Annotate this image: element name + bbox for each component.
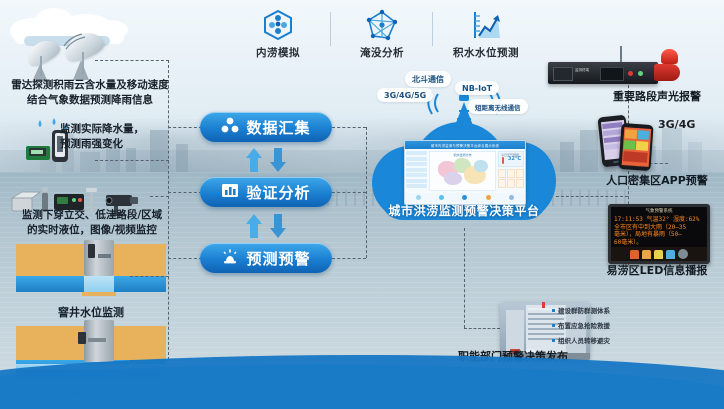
pill-label: 预测预警 <box>246 248 310 269</box>
capability-item-inundation-analysis[interactable]: 淹没分析 <box>336 8 428 60</box>
app-network-tag: 3G/4G <box>658 118 695 131</box>
dashboard-titlebar: 城市内涝监测与预警决策平台综合展示系统 <box>405 141 525 149</box>
gov-trunk-connector <box>464 228 465 328</box>
weather-temp-box: 今日天气预报 32°C <box>498 151 524 167</box>
weather-temp: 32°C <box>508 156 521 162</box>
app-label: 人口密集区APP预警 <box>590 172 724 188</box>
dashboard-sidebar[interactable] <box>405 149 428 193</box>
dashboard-title: 城市内涝监测与预警决策平台综合展示系统 <box>431 143 499 148</box>
gov-bullet-label: 建设群防群测体系 <box>558 305 610 315</box>
led-line-4: 60毫米）。 <box>614 239 704 247</box>
bullet-dot-icon <box>552 324 555 327</box>
radar-caption-line-2: 结合气象数据预测降雨信息 <box>4 93 176 108</box>
capability-item-waterlogging-simulation[interactable]: 内涝模拟 <box>232 8 324 60</box>
infographic-canvas: 内涝模拟 淹没分析 <box>0 0 724 409</box>
flow-arrows-1 <box>240 146 292 174</box>
platform-dashboard-screen[interactable]: 城市内涝监测与预警决策平台综合展示系统 积水监测分布 今日天气预报 32°C <box>404 140 526 205</box>
pill1-to-cloud-connector <box>332 127 366 128</box>
led-label: 易涝区LED信息播报 <box>590 262 724 278</box>
dashboard-map-panel[interactable]: 积水监测分布 <box>429 151 496 191</box>
flow-arrows-2 <box>240 212 292 240</box>
left-trunk-connector <box>168 60 169 360</box>
led-line-1: 17:11:53 气温32° 湿度:62% <box>614 216 704 224</box>
rain-gauge-line-2: 预测雨强变化 <box>60 137 180 152</box>
trend-chart-icon <box>440 8 532 42</box>
platform-title: 城市洪涝监测预警决策平台 <box>372 202 556 219</box>
radar-connector <box>95 60 169 61</box>
led-line-2: 全市区有中到大雨（20—35 <box>614 224 704 232</box>
capability-icon-row: 内涝模拟 淹没分析 <box>232 8 532 68</box>
pill-verification-analysis[interactable]: 验证分析 <box>200 177 332 207</box>
road-monitor-caption: 监测下穿立交、低洼路段/区域 的实时液位，图像/视频监控 <box>4 208 180 238</box>
capability-item-water-level-forecast[interactable]: 积水水位预测 <box>440 8 532 60</box>
led-header: 气象预警系统 <box>611 208 707 214</box>
led-line-3: 毫米），局地有暴雨（50— <box>614 231 704 239</box>
gov-bullet-label: 布置应急抢险救援 <box>558 320 610 330</box>
radar-caption-line-1: 雷达探测积雨云含水量及移动速度 <box>4 78 176 93</box>
dashboard-weather-panel: 今日天气预报 32°C <box>497 149 525 193</box>
capability-label: 积水水位预测 <box>440 45 532 60</box>
well-connector <box>130 276 169 277</box>
capability-label: 淹没分析 <box>336 45 428 60</box>
bar-chart-icon <box>221 182 239 202</box>
cloud-trunk-connector <box>366 127 367 258</box>
well-caption: 窨井水位监测 <box>16 304 166 320</box>
pill-label: 验证分析 <box>246 182 310 203</box>
gov-branch-connector <box>464 328 500 329</box>
connector-to-pill-2 <box>168 192 202 193</box>
rain-gauge-connector <box>95 160 169 161</box>
comm-tag-short-range: 短距离无线通信 <box>468 99 528 114</box>
comm-tag-beidou: 北斗通信 <box>405 71 451 87</box>
road-monitor-connector <box>150 196 169 197</box>
dashboard-map-title: 积水监测分布 <box>453 153 471 157</box>
radar-signal-icon <box>58 30 94 52</box>
gov-bullet-item: 建设群防群测体系 <box>552 305 610 315</box>
cube-network-icon <box>232 8 324 42</box>
road-monitor-line-2: 的实时液位，图像/视频监控 <box>4 223 180 238</box>
bullet-dot-icon <box>552 309 555 312</box>
cluster-dots-icon <box>221 117 239 137</box>
radar-dish-left <box>26 42 60 62</box>
comm-tag-mobile: 3G/4G/5G <box>377 88 433 102</box>
road-monitor-line-1: 监测下穿立交、低洼路段/区域 <box>4 208 180 223</box>
pill-data-collection[interactable]: 数据汇集 <box>200 112 332 142</box>
cloud-to-right-connector <box>556 196 628 197</box>
gov-bullet-item: 布置应急抢险救援 <box>552 320 610 330</box>
rain-gauge-line-1: 监测实际降水量， <box>60 122 180 137</box>
alarm-label: 重要路段声光报警 <box>590 88 724 104</box>
bullet-dot-icon <box>552 339 555 342</box>
pill3-to-cloud-connector <box>332 258 366 259</box>
mesh-analysis-icon <box>336 8 428 42</box>
comm-tag-nbiot: NB-IoT <box>455 81 499 95</box>
connector-to-pill-3 <box>168 258 202 259</box>
capability-label: 内涝模拟 <box>232 45 324 60</box>
roadside-alarm-device: 监测终端 <box>548 62 658 84</box>
pill-forecast-warning[interactable]: 预测预警 <box>200 243 332 273</box>
dashboard-toolbar[interactable] <box>405 193 525 202</box>
bottom-wave-decoration <box>0 343 724 409</box>
pill-label: 数据汇集 <box>246 117 310 138</box>
well-level-illustration <box>16 244 166 302</box>
rain-gauge-caption: 监测实际降水量， 预测雨强变化 <box>60 122 180 152</box>
pill2-to-cloud-connector <box>332 192 366 193</box>
led-information-board: 气象预警系统 17:11:53 气温32° 湿度:62% 全市区有中到大雨（20… <box>608 204 710 264</box>
radar-caption: 雷达探测积雨云含水量及移动速度 结合气象数据预测降雨信息 <box>4 78 176 108</box>
connector-to-pill-1 <box>168 127 202 128</box>
alarm-lamp-icon <box>221 248 239 269</box>
weather-forecast-grid <box>498 169 524 188</box>
